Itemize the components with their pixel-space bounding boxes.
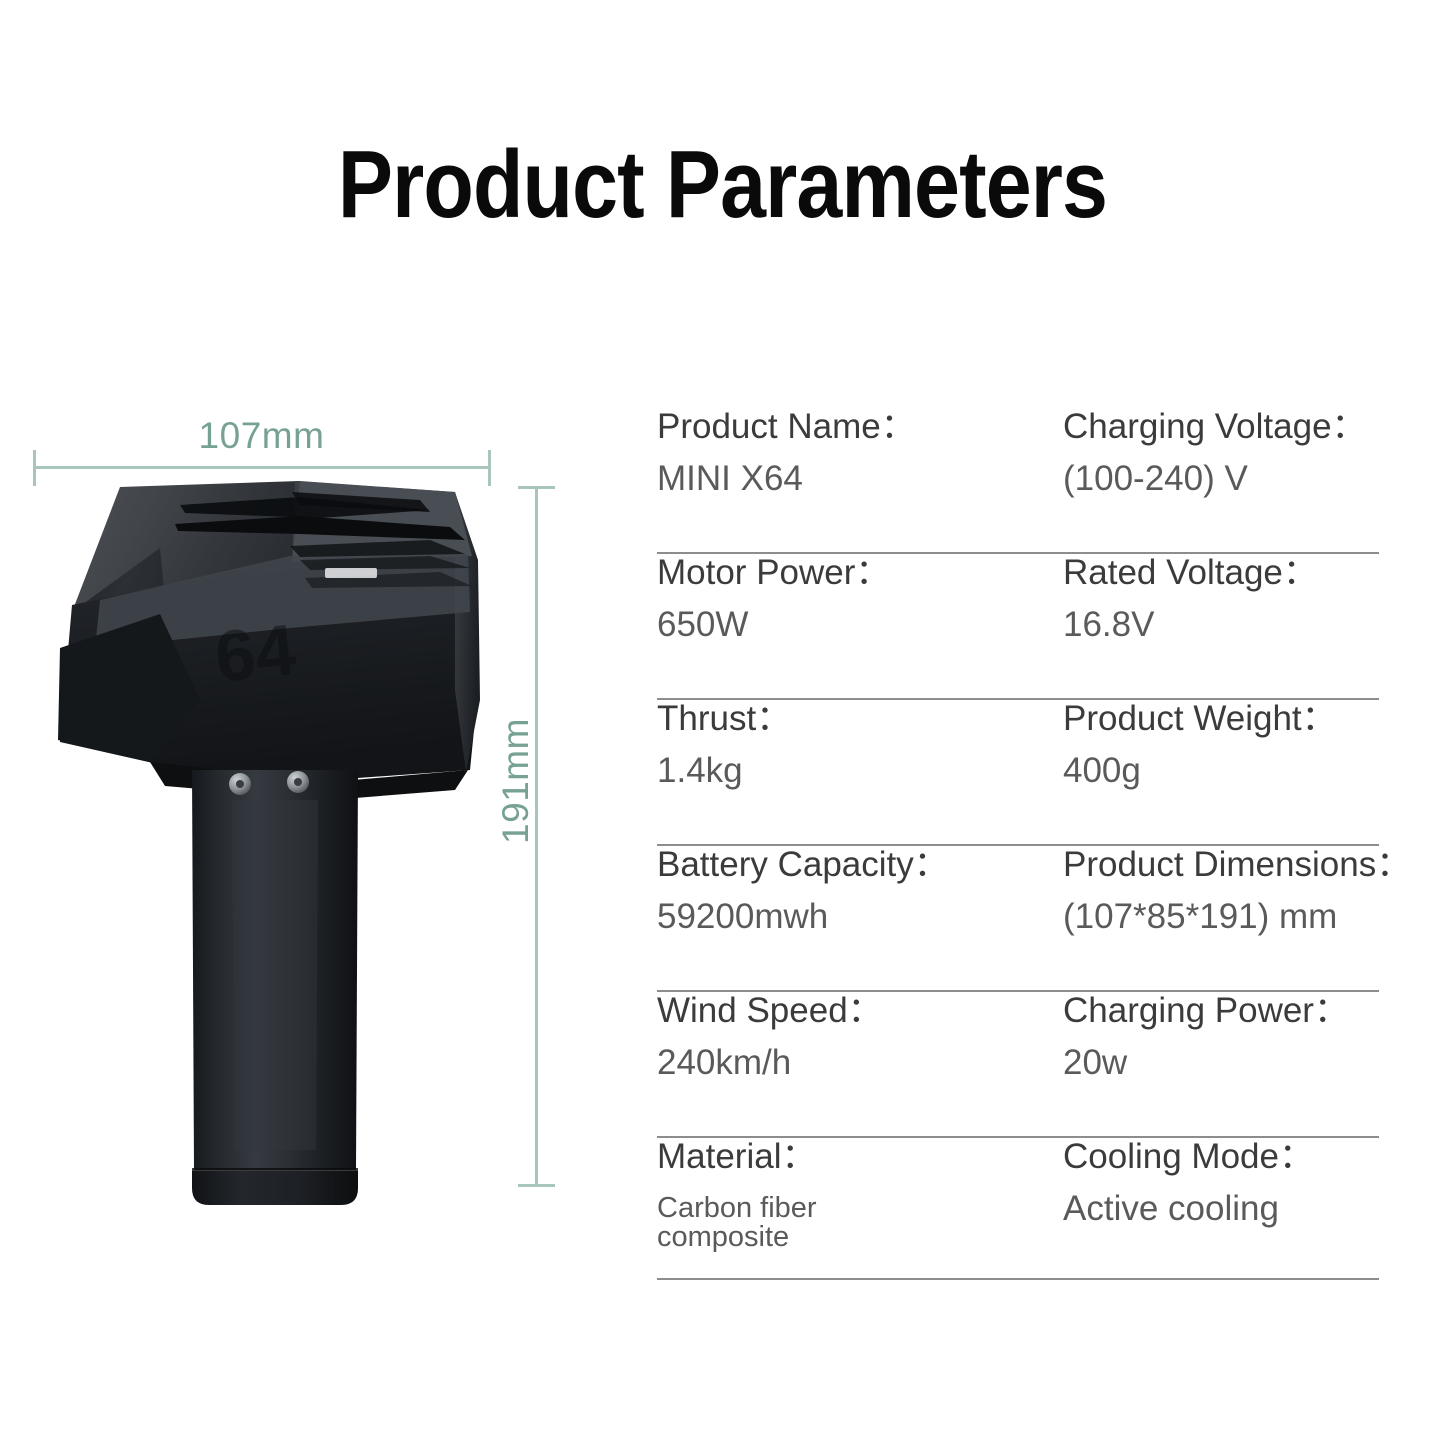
width-dimension-cap-left [33, 450, 36, 486]
spec-cell: Battery Capacity： 59200mwh [657, 846, 1077, 936]
spec-cell: Wind Speed： 240km/h [657, 992, 1077, 1082]
width-dimension-cap-right [488, 450, 491, 486]
spec-cell: Product Weight： 400g [1063, 700, 1403, 790]
spec-label: Motor Power： [657, 554, 1077, 592]
handle-screws [229, 771, 309, 795]
spec-label: Rated Voltage： [1063, 554, 1403, 592]
spec-cell: Product Name： MINI X64 [657, 408, 1077, 498]
spec-row: Battery Capacity： 59200mwh Product Dimen… [657, 846, 1379, 992]
height-dimension-cap-bottom [518, 1184, 555, 1187]
spec-row: Wind Speed： 240km/h Charging Power： 20w [657, 992, 1379, 1138]
spec-value: Active cooling [1063, 1190, 1403, 1228]
spec-row: Material： Carbon fiber composite Cooling… [657, 1138, 1379, 1280]
spec-label: Cooling Mode： [1063, 1138, 1403, 1176]
spec-row: Thrust： 1.4kg Product Weight： 400g [657, 700, 1379, 846]
spec-label: Product Dimensions： [1063, 846, 1403, 884]
screw-right [287, 771, 309, 793]
width-dimension-line [33, 466, 490, 469]
vent-slots [175, 492, 472, 588]
spec-value: 59200mwh [657, 898, 1077, 936]
spec-row: Product Name： MINI X64 Charging Voltage：… [657, 408, 1379, 554]
spec-value: 1.4kg [657, 752, 1077, 790]
product-parameters-page: Product Parameters [0, 0, 1445, 1445]
spec-label: Product Name： [657, 408, 1077, 446]
product-image-panel: 64 107mm 19 [0, 0, 620, 1445]
spec-value: 16.8V [1063, 606, 1403, 644]
height-dimension-label: 191mm [495, 661, 537, 901]
spec-value: MINI X64 [657, 460, 1077, 498]
spec-label: Charging Voltage： [1063, 408, 1403, 446]
height-dimension-cap-top [518, 486, 555, 489]
vent-highlight-slot [325, 568, 377, 578]
spec-cell: Thrust： 1.4kg [657, 700, 1077, 790]
embossed-64-marking: 64 [211, 610, 299, 698]
spec-label: Wind Speed： [657, 992, 1077, 1030]
spec-cell: Charging Voltage： (100-240) V [1063, 408, 1403, 498]
spec-cell: Charging Power： 20w [1063, 992, 1403, 1082]
spec-value: 240km/h [657, 1044, 1077, 1082]
spec-cell: Motor Power： 650W [657, 554, 1077, 644]
spec-cell: Cooling Mode： Active cooling [1063, 1138, 1403, 1228]
spec-label: Product Weight： [1063, 700, 1403, 738]
specification-table: Product Name： MINI X64 Charging Voltage：… [657, 408, 1379, 1280]
spec-value: Carbon fiber composite [657, 1194, 887, 1252]
spec-value: 20w [1063, 1044, 1403, 1082]
spec-value: (107*85*191) mm [1063, 898, 1403, 936]
spec-label: Thrust： [657, 700, 1077, 738]
product-handle [192, 770, 358, 1205]
spec-value: (100-240) V [1063, 460, 1403, 498]
spec-label: Charging Power： [1063, 992, 1403, 1030]
spec-cell: Material： Carbon fiber composite [657, 1138, 1077, 1252]
spec-cell: Product Dimensions： (107*85*191) mm [1063, 846, 1403, 936]
spec-label: Material： [657, 1138, 1077, 1176]
screw-left [229, 773, 251, 795]
spec-value: 650W [657, 606, 1077, 644]
spec-cell: Rated Voltage： 16.8V [1063, 554, 1403, 644]
spec-value: 400g [1063, 752, 1403, 790]
spec-label: Battery Capacity： [657, 846, 1077, 884]
width-dimension-label: 107mm [33, 415, 490, 457]
spec-row: Motor Power： 650W Rated Voltage： 16.8V [657, 554, 1379, 700]
product-head [58, 481, 480, 800]
